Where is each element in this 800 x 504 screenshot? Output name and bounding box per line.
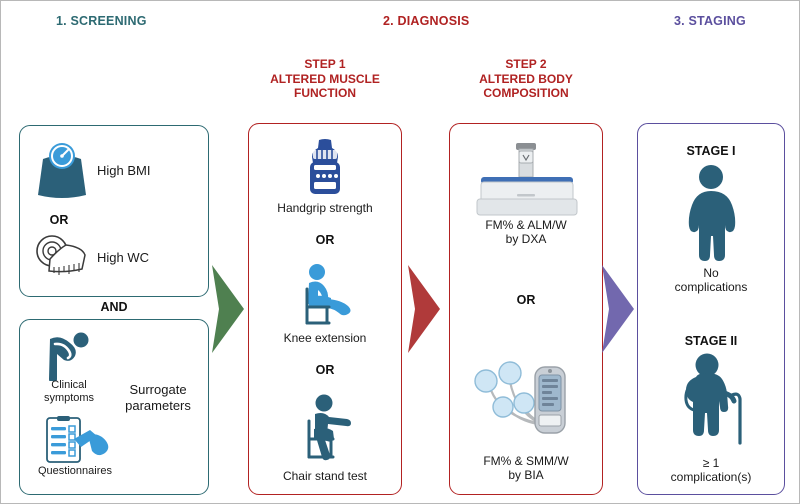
chair-stand-test-label: Chair stand test: [251, 469, 399, 483]
stage-1-description: No complications: [639, 266, 783, 294]
column-header-staging: 3. STAGING: [674, 14, 746, 28]
clinical-symptoms-label: Clinical symptoms: [23, 379, 115, 405]
stage-2-description: ≥ 1 complication(s): [639, 456, 783, 484]
stage-1-title: STAGE I: [639, 144, 783, 158]
bia-device-icon: [469, 361, 583, 453]
step-2-or-connector: OR: [452, 293, 600, 307]
bia-measure-label: FM% & SMM/W by BIA: [452, 454, 600, 482]
person-bending-icon: [41, 331, 97, 381]
knee-extension-label: Knee extension: [251, 331, 399, 345]
column-header-screening: 1. SCREENING: [56, 14, 147, 28]
seated-leg-extension-icon: [295, 263, 357, 329]
purple-right-arrow-icon: [599, 263, 637, 355]
hand-dynamometer-icon: [299, 138, 351, 200]
high-bmi-label: High BMI: [97, 164, 197, 178]
step-2-title: STEP 2 ALTERED BODY COMPOSITION: [449, 57, 603, 101]
step-1-or-connector-1: OR: [251, 233, 399, 247]
screening-and-connector: AND: [19, 300, 209, 314]
elderly-person-with-cane-icon: [674, 353, 748, 453]
red-right-arrow-icon: [405, 263, 443, 355]
handgrip-strength-label: Handgrip strength: [251, 201, 399, 215]
chair-stand-icon: [295, 393, 357, 463]
step-1-title: STEP 1 ALTERED MUSCLE FUNCTION: [248, 57, 402, 101]
stage-2-title: STAGE II: [639, 334, 783, 348]
screening-or-connector: OR: [19, 213, 99, 227]
column-header-diagnosis: 2. DIAGNOSIS: [383, 14, 469, 28]
green-right-arrow-icon: [209, 263, 247, 355]
obese-person-icon: [678, 164, 744, 262]
dxa-measure-label: FM% & ALM/W by DXA: [452, 218, 600, 246]
surrogate-parameters-label: Surrogate parameters: [111, 382, 205, 414]
step-1-or-connector-2: OR: [251, 363, 399, 377]
clipboard-checklist-icon: [44, 416, 112, 464]
high-wc-label: High WC: [97, 251, 197, 265]
dxa-scanner-icon: [463, 141, 589, 217]
questionnaires-label: Questionnaires: [15, 465, 135, 478]
measuring-tape-icon: [33, 233, 91, 285]
diagnostic-algorithm-figure: 1. SCREENING 2. DIAGNOSIS 3. STAGING STE…: [0, 0, 800, 504]
bathroom-scale-icon: [31, 139, 93, 201]
